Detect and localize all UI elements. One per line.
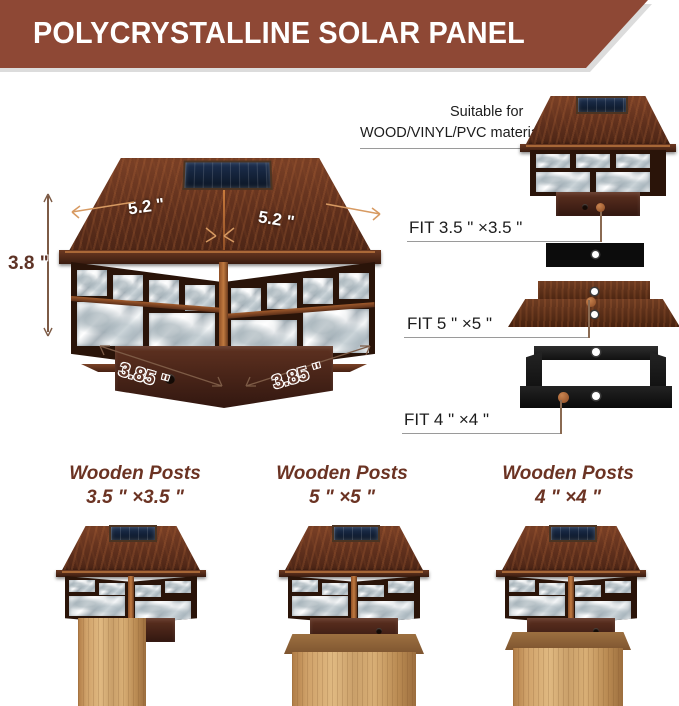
glass-pane bbox=[113, 275, 143, 301]
eave-highlight bbox=[502, 571, 640, 573]
anchor-dot-fit-35 bbox=[596, 203, 605, 212]
post-example-label-1: Wooden Posts 3.5 " ×3.5 " bbox=[35, 462, 235, 511]
glass-pane bbox=[69, 596, 125, 616]
glass-pane bbox=[99, 583, 125, 595]
dim-arrow-center bbox=[198, 224, 244, 246]
post-example-label-2: Wooden Posts 5 " ×5 " bbox=[262, 462, 422, 511]
dim-arrow-top-right bbox=[230, 196, 390, 236]
glass-pane bbox=[231, 288, 261, 314]
post-title: Wooden Posts bbox=[276, 463, 408, 484]
solar-post-cap-light-example-2 bbox=[278, 522, 430, 640]
mount-hole bbox=[592, 392, 600, 400]
wooden-post-1 bbox=[78, 618, 146, 706]
glass-pane bbox=[322, 583, 348, 595]
post-title: Wooden Posts bbox=[69, 463, 201, 484]
suitable-line1: Suitable for bbox=[450, 104, 523, 120]
callout-fit-4: FIT 4 " ×4 " bbox=[404, 410, 489, 430]
mount-hole bbox=[592, 251, 599, 258]
glass-band-left bbox=[65, 576, 131, 624]
glass-pane bbox=[303, 278, 333, 304]
solar-cells bbox=[111, 527, 155, 540]
leader-line-suitable bbox=[360, 148, 523, 149]
adapter-black-4x4 bbox=[508, 344, 679, 424]
adapter-bronze-5x5 bbox=[508, 243, 679, 335]
solar-panel bbox=[109, 525, 157, 542]
glass-pane bbox=[388, 581, 414, 593]
glass-pane bbox=[77, 270, 107, 296]
callout-fit-5: FIT 5 " ×5 " bbox=[407, 314, 492, 334]
solar-panel bbox=[576, 96, 628, 114]
glass-pane bbox=[292, 580, 318, 592]
glass-band-right bbox=[354, 576, 420, 624]
glass-pane bbox=[596, 172, 650, 192]
solar-post-cap-light-example-3 bbox=[495, 522, 647, 640]
post-size: 4 " ×4 " bbox=[535, 487, 601, 508]
post-title: Wooden Posts bbox=[502, 463, 634, 484]
glass-band bbox=[530, 150, 666, 196]
glass-pane bbox=[267, 283, 297, 309]
glass-band-left bbox=[505, 576, 571, 624]
glass-pane bbox=[605, 581, 631, 593]
glass-pane bbox=[165, 581, 191, 593]
post-size: 3.5 " ×3.5 " bbox=[86, 487, 184, 508]
solar-panel bbox=[182, 161, 272, 190]
post-example-label-3: Wooden Posts 4 " ×4 " bbox=[478, 462, 658, 511]
dimension-height-label: 3.8 " bbox=[8, 253, 49, 275]
glass-band-right bbox=[131, 576, 197, 624]
glass-pane bbox=[358, 585, 384, 597]
mount-hole bbox=[592, 348, 600, 356]
mount-hole bbox=[591, 288, 598, 295]
callout-fit-35: FIT 3.5 " ×3.5 " bbox=[409, 218, 522, 238]
post-size: 5 " ×5 " bbox=[309, 487, 375, 508]
wooden-post-3 bbox=[513, 648, 623, 706]
glass-band-right bbox=[571, 576, 637, 624]
post-adapter-top-2 bbox=[284, 634, 424, 654]
solar-post-cap-light-35 bbox=[518, 92, 678, 217]
solar-cells bbox=[334, 527, 378, 540]
page-title: POLYCRYSTALLINE SOLAR PANEL bbox=[33, 15, 525, 51]
glass-band-left bbox=[288, 576, 354, 624]
screw-hole bbox=[582, 204, 588, 210]
leader-line-fit-4 bbox=[402, 433, 561, 434]
glass-pane bbox=[135, 585, 161, 597]
glass-pane bbox=[616, 154, 650, 168]
eave-highlight bbox=[285, 571, 423, 573]
leader-v-fit-5 bbox=[588, 300, 590, 338]
glass-pane bbox=[69, 580, 95, 592]
leader-line-fit-5 bbox=[404, 337, 589, 338]
leader-line-fit-35 bbox=[407, 241, 601, 242]
header-banner: POLYCRYSTALLINE SOLAR PANEL bbox=[0, 0, 679, 78]
glass-pane bbox=[339, 273, 369, 299]
wooden-post-2 bbox=[292, 652, 416, 706]
leader-v-fit-4 bbox=[560, 400, 562, 434]
glass-pane bbox=[539, 583, 565, 595]
solar-cells bbox=[578, 98, 626, 112]
glass-pane bbox=[509, 580, 535, 592]
solar-cells bbox=[184, 162, 270, 187]
glass-pane bbox=[576, 154, 610, 168]
solar-cells bbox=[551, 527, 595, 540]
leader-v-fit-35 bbox=[600, 210, 602, 242]
solar-panel bbox=[332, 525, 380, 542]
glass-pane bbox=[575, 585, 601, 597]
eave-highlight bbox=[526, 145, 670, 147]
glass-pane bbox=[509, 596, 565, 616]
mount-hole bbox=[591, 311, 598, 318]
glass-pane bbox=[536, 154, 570, 168]
screw-hole bbox=[376, 628, 382, 634]
glass-pane bbox=[536, 172, 590, 192]
glass-pane bbox=[292, 596, 348, 616]
eave-highlight bbox=[62, 571, 200, 573]
solar-panel bbox=[549, 525, 597, 542]
